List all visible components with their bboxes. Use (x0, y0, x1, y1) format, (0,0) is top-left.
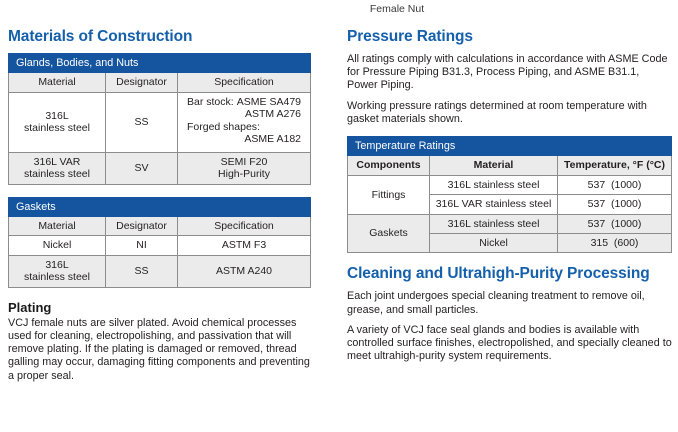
column-header-specification: Specification (178, 73, 311, 92)
spec-line-value: ASME SA479 (237, 96, 301, 108)
section-heading-cleaning: Cleaning and Ultrahigh-Purity Processing (347, 265, 672, 283)
column-header-designator: Designator (106, 217, 178, 236)
figure-caption: Female Nut (0, 3, 678, 15)
table-header-row: Material Designator Specification (9, 73, 311, 92)
cell-component-group: Fittings (348, 175, 430, 214)
cell-material: 316L VARstainless steel (9, 152, 106, 184)
table-row: Nickel NI ASTM F3 (9, 236, 311, 255)
column-header-material: Material (9, 217, 106, 236)
cell-material: Nickel (430, 234, 558, 253)
spec-line-value: ASTM A276 (245, 108, 301, 120)
column-header-designator: Designator (106, 73, 178, 92)
table-row: Fittings 316L stainless steel 537 (1000) (348, 175, 672, 194)
table-title-glands: Glands, Bodies, and Nuts (9, 54, 311, 73)
column-header-components: Components (348, 156, 430, 175)
left-column: Materials of Construction Glands, Bodies… (8, 28, 311, 383)
paragraph-pressure-2: Working pressure ratings determined at r… (347, 100, 672, 126)
cell-specification: Bar stock: ASME SA479 ASTM A276Forged sh… (178, 92, 311, 152)
table-title-row: Glands, Bodies, and Nuts (9, 54, 311, 73)
cell-temperature: 537 (1000) (558, 214, 672, 233)
table-title-temperature: Temperature Ratings (348, 137, 672, 156)
cell-temperature: 537 (1000) (558, 175, 672, 194)
spec-line: ASTM A276 (187, 108, 301, 120)
spec-line-label: Forged shapes: (187, 121, 260, 133)
cell-designator: SS (106, 255, 178, 287)
cell-material: Nickel (9, 236, 106, 255)
column-header-material: Material (9, 73, 106, 92)
table-gaskets: Gaskets Material Designator Specificatio… (8, 197, 311, 288)
cell-material: 316Lstainless steel (9, 92, 106, 152)
table-title-row: Gaskets (9, 197, 311, 216)
section-heading-pressure-ratings: Pressure Ratings (347, 28, 672, 46)
page-title-materials: Materials of Construction (8, 28, 311, 46)
cell-material: 316L stainless steel (430, 175, 558, 194)
column-header-specification: Specification (178, 217, 311, 236)
paragraph-plating: VCJ female nuts are silver plated. Avoid… (8, 317, 311, 383)
cell-temperature: 537 (1000) (558, 195, 672, 214)
spec-line-label: Bar stock: (187, 96, 234, 108)
cell-designator: SS (106, 92, 178, 152)
table-title-row: Temperature Ratings (348, 137, 672, 156)
paragraph-cleaning-2: A variety of VCJ face seal glands and bo… (347, 324, 672, 364)
column-header-material: Material (430, 156, 558, 175)
section-heading-plating: Plating (8, 300, 311, 315)
table-row: Gaskets 316L stainless steel 537 (1000) (348, 214, 672, 233)
paragraph-pressure-1: All ratings comply with calculations in … (347, 53, 672, 93)
cell-specification: ASTM F3 (178, 236, 311, 255)
cell-material: 316L stainless steel (430, 214, 558, 233)
cell-temperature: 315 (600) (558, 234, 672, 253)
table-title-gaskets: Gaskets (9, 197, 311, 216)
cell-specification: ASTM A240 (178, 255, 311, 287)
spec-line-group: Bar stock: ASME SA479 ASTM A276Forged sh… (187, 96, 301, 146)
column-header-temperature: Temperature, °F (°C) (558, 156, 672, 175)
cell-component-group: Gaskets (348, 214, 430, 253)
right-column: Pressure Ratings All ratings comply with… (347, 28, 672, 363)
table-header-row: Material Designator Specification (9, 217, 311, 236)
cell-material: 316Lstainless steel (9, 255, 106, 287)
table-glands-bodies-nuts: Glands, Bodies, and Nuts Material Design… (8, 53, 311, 185)
cell-designator: NI (106, 236, 178, 255)
cell-specification: SEMI F20High-Purity (178, 152, 311, 184)
cell-material: 316L VAR stainless steel (430, 195, 558, 214)
table-row: 316Lstainless steel SS Bar stock: ASME S… (9, 92, 311, 152)
spec-line: Forged shapes: (187, 121, 301, 133)
paragraph-cleaning-1: Each joint undergoes special cleaning tr… (347, 290, 672, 316)
spec-line-value: ASME A182 (244, 133, 301, 145)
spec-line: ASME A182 (187, 133, 301, 145)
table-row: 316Lstainless steel SS ASTM A240 (9, 255, 311, 287)
cell-designator: SV (106, 152, 178, 184)
table-temperature-ratings: Temperature Ratings Components Material … (347, 136, 672, 253)
spec-line: Bar stock: ASME SA479 (187, 96, 301, 108)
table-row: 316L VARstainless steel SV SEMI F20High-… (9, 152, 311, 184)
table-header-row: Components Material Temperature, °F (°C) (348, 156, 672, 175)
figure-caption-label: Female Nut (370, 3, 424, 15)
